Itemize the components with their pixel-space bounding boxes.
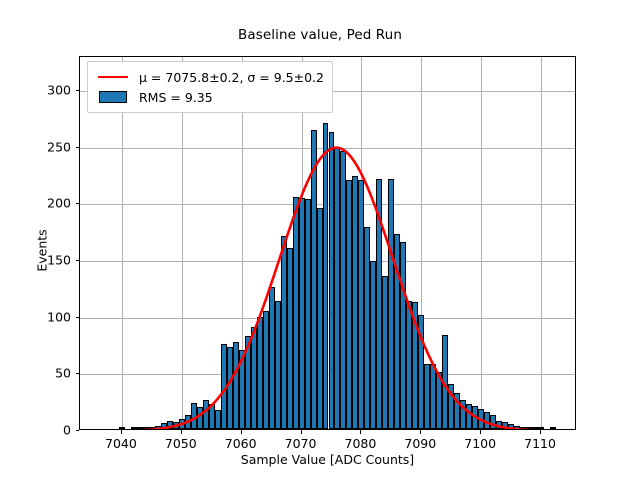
x-tick-mark [420,430,421,434]
y-tick-label: 50 [15,366,71,381]
x-tick-mark [480,430,481,434]
legend: μ = 7075.8±0.2, σ = 9.5±0.2 RMS = 9.35 [87,61,333,113]
x-tick-mark [241,430,242,434]
legend-label-rms: RMS = 9.35 [139,90,213,105]
legend-label-fit: μ = 7075.8±0.2, σ = 9.5±0.2 [139,70,324,85]
y-tick-mark [76,317,80,318]
x-tick-mark [360,430,361,434]
page-title: Baseline value, Ped Run [0,27,640,43]
y-tick-mark [76,203,80,204]
x-tick-label: 7050 [165,436,197,451]
y-tick-mark [76,90,80,91]
x-tick-label: 7080 [345,436,377,451]
legend-patch-swatch [94,91,132,103]
x-tick-mark [540,430,541,434]
y-tick-label: 0 [15,423,71,438]
y-tick-mark [76,373,80,374]
figure-canvas: Baseline value, Ped Run 7040705070607070… [0,0,640,480]
y-tick-mark [76,430,80,431]
legend-item-histogram: RMS = 9.35 [94,87,324,107]
x-tick-label: 7110 [524,436,556,451]
x-tick-label: 7070 [285,436,317,451]
y-tick-label: 300 [15,83,71,98]
x-tick-label: 7090 [404,436,436,451]
x-tick-label: 7040 [105,436,137,451]
x-tick-mark [121,430,122,434]
x-tick-label: 7100 [464,436,496,451]
y-tick-mark [76,260,80,261]
y-axis-label: Events [35,191,50,311]
y-tick-label: 100 [15,309,71,324]
y-tick-mark [76,147,80,148]
x-tick-label: 7060 [225,436,257,451]
y-tick-label: 250 [15,139,71,154]
x-axis-label: Sample Value [ADC Counts] [79,452,576,467]
legend-line-swatch [94,76,132,79]
legend-item-fit: μ = 7075.8±0.2, σ = 9.5±0.2 [94,67,324,87]
x-tick-mark [181,430,182,434]
x-tick-mark [301,430,302,434]
